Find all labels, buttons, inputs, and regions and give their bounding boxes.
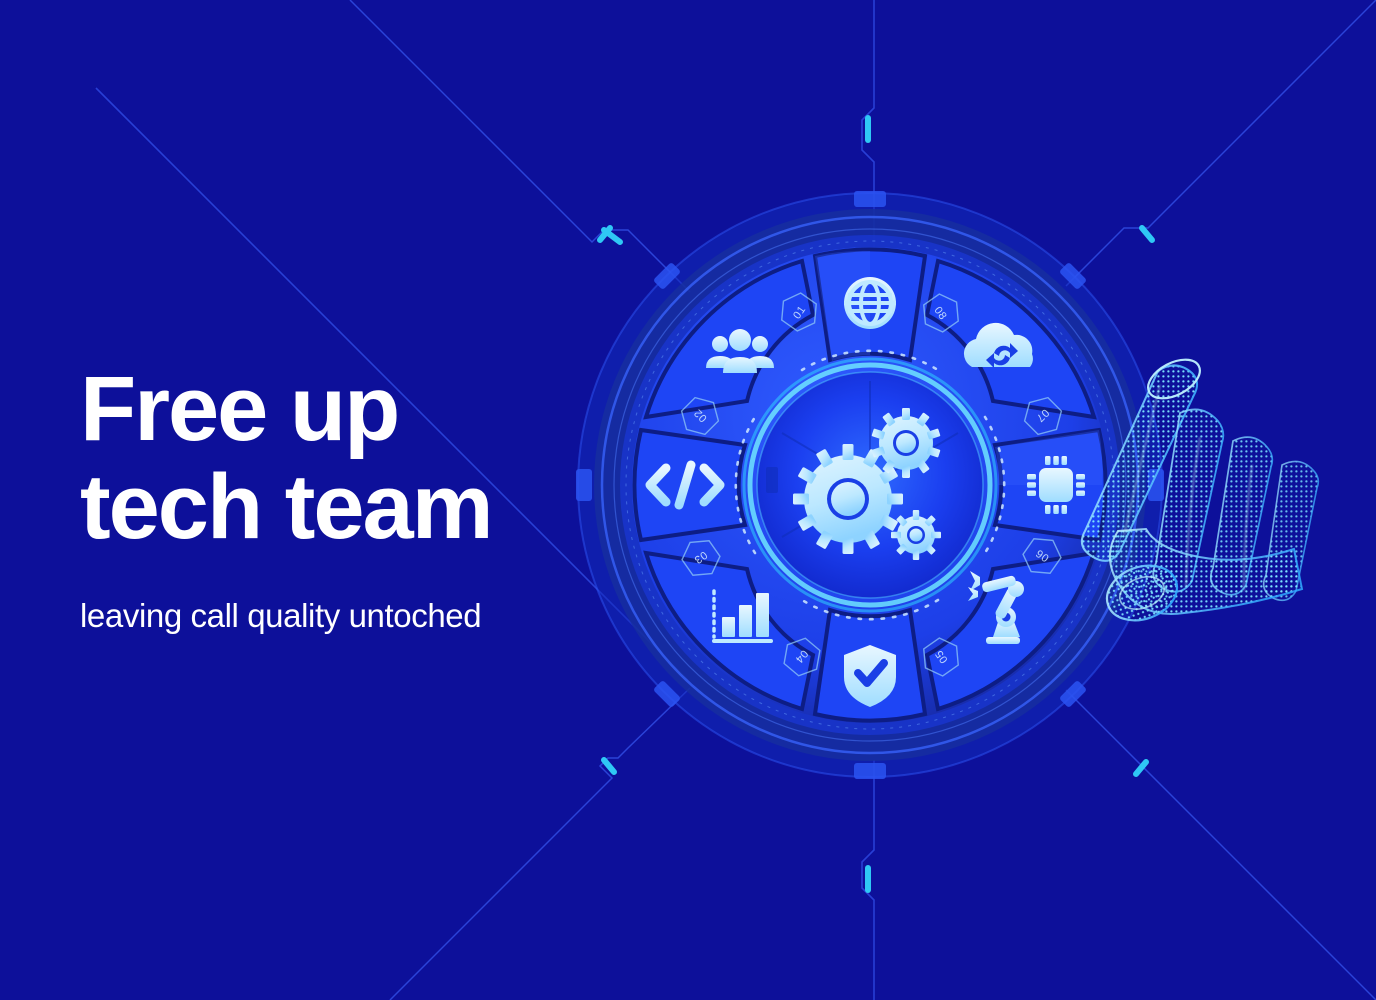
wireframe-hand-graphic <box>1100 345 1370 645</box>
page-subtitle: leaving call quality untoched <box>80 597 640 635</box>
technology-hub-graphic: 01 02 03 04 05 06 07 <box>570 185 1170 785</box>
pointing-hand-icon <box>1082 352 1318 630</box>
hero-text-block: Free up tech team leaving call quality u… <box>80 360 640 635</box>
page-title: Free up tech team <box>80 360 640 557</box>
